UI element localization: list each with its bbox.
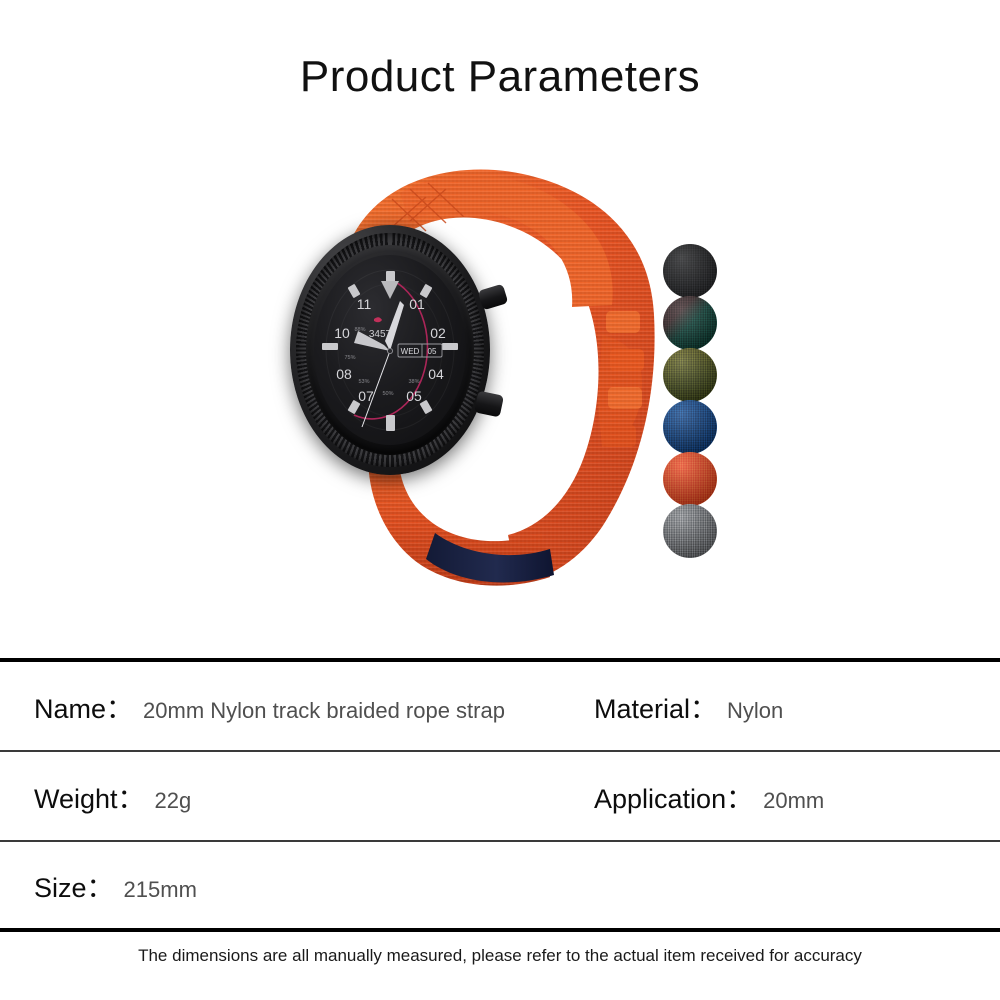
product-image-area: 01 02 04 05 07 08 10 11 88% 75% 53% [0, 120, 1000, 645]
spec-label: Material： [594, 687, 717, 726]
svg-text:75%: 75% [344, 355, 355, 361]
svg-text:01: 01 [409, 296, 425, 312]
svg-text:50%: 50% [382, 391, 393, 397]
spec-value: Nylon [727, 698, 783, 724]
svg-text:38%: 38% [408, 379, 419, 385]
svg-text:05: 05 [428, 347, 437, 356]
spec-label: Weight： [34, 777, 145, 816]
spec-label: Name： [34, 687, 133, 726]
swatch-shading [663, 400, 717, 454]
swatch-shading [663, 348, 717, 402]
watch-face-graphics: 01 02 04 05 07 08 10 11 88% 75% 53% [314, 255, 466, 445]
watch-dial: 01 02 04 05 07 08 10 11 88% 75% 53% [314, 255, 466, 445]
swatch-shading [663, 452, 717, 506]
product-parameters-table: Name： 20mm Nylon track braided rope stra… [0, 658, 1000, 932]
svg-text:WED: WED [401, 347, 420, 356]
svg-text:02: 02 [430, 325, 446, 341]
table-row: Weight： 22g Application： 20mm [0, 752, 1000, 840]
smartwatch-body: 01 02 04 05 07 08 10 11 88% 75% 53% [290, 225, 498, 475]
svg-text:53%: 53% [358, 379, 369, 385]
spec-cell-name: Name： 20mm Nylon track braided rope stra… [34, 687, 594, 726]
spec-value: 20mm [763, 788, 824, 814]
page-title: Product Parameters [0, 52, 1000, 103]
spec-cell-application: Application： 20mm [594, 777, 824, 816]
watch-bottom-button [474, 391, 504, 418]
spec-cell-material: Material： Nylon [594, 687, 783, 726]
spec-value: 22g [155, 788, 192, 814]
color-swatch-green-camo[interactable] [663, 296, 717, 350]
watch-date-complication: WED 05 [398, 344, 442, 357]
table-bottom-rule [0, 928, 1000, 932]
spec-value: 215mm [124, 877, 197, 903]
measurement-disclaimer: The dimensions are all manually measured… [0, 946, 1000, 966]
swatch-shading [663, 244, 717, 298]
svg-text:11: 11 [357, 296, 372, 312]
color-swatch-list [663, 244, 723, 558]
color-swatch-gray[interactable] [663, 504, 717, 558]
color-swatch-blue[interactable] [663, 400, 717, 454]
spec-value: 20mm Nylon track braided rope strap [143, 698, 505, 724]
spec-cell-weight: Weight： 22g [34, 777, 594, 816]
watch-with-strap-photo: 01 02 04 05 07 08 10 11 88% 75% 53% [250, 135, 680, 595]
table-row: Size： 215mm [0, 842, 1000, 928]
spec-label: Application： [594, 777, 753, 816]
svg-text:10: 10 [334, 325, 350, 341]
swatch-shading [663, 296, 717, 350]
svg-text:05: 05 [406, 388, 422, 404]
spec-cell-size: Size： 215mm [34, 866, 594, 905]
spec-label: Size： [34, 866, 114, 905]
svg-text:04: 04 [428, 366, 444, 382]
table-row: Name： 20mm Nylon track braided rope stra… [0, 662, 1000, 750]
color-swatch-black[interactable] [663, 244, 717, 298]
svg-text:88%: 88% [354, 327, 365, 333]
color-swatch-orange[interactable] [663, 452, 717, 506]
svg-text:08: 08 [336, 366, 352, 382]
color-swatch-olive-khaki[interactable] [663, 348, 717, 402]
swatch-shading [663, 504, 717, 558]
